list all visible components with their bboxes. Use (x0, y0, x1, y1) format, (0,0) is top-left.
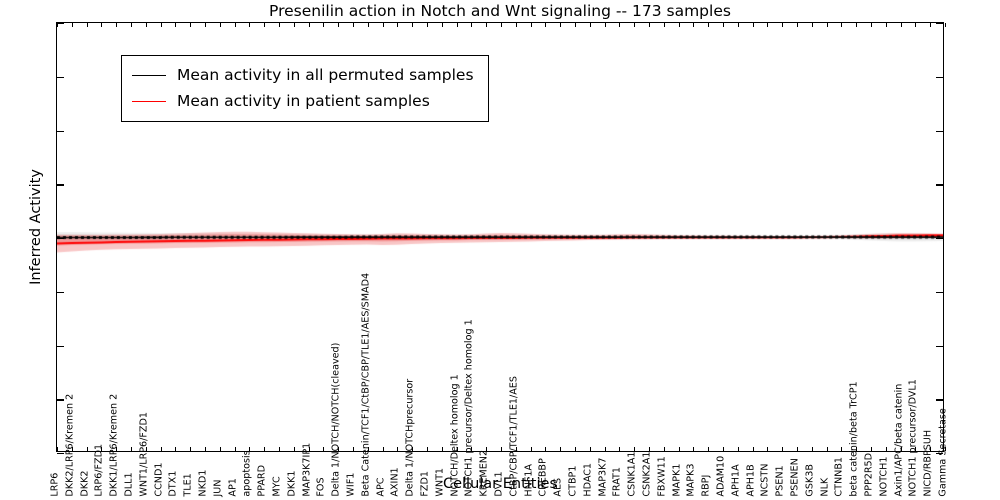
x-tick-mark (886, 23, 887, 27)
x-tick-mark (235, 23, 236, 27)
x-tick-mark (753, 447, 754, 451)
x-tick-mark (797, 23, 798, 27)
legend-item: Mean activity in all permuted samples (132, 62, 474, 88)
x-tick-mark (131, 447, 132, 451)
x-tick-mark (249, 23, 250, 27)
y-tick-mark (936, 292, 943, 293)
y-tick-mark (936, 23, 943, 24)
legend-label-permuted: Mean activity in all permuted samples (177, 66, 474, 84)
x-tick-mark (131, 23, 132, 27)
y-tick-mark (57, 399, 64, 400)
x-tick-mark (338, 23, 339, 27)
x-tick-mark (442, 23, 443, 27)
x-tick-mark (412, 23, 413, 27)
x-tick-mark (767, 447, 768, 451)
y-tick-mark (936, 346, 943, 347)
x-tick-mark (190, 447, 191, 451)
x-tick-mark (397, 23, 398, 27)
plot-area: Inferred Activity 43210−1−2−3−4 Mean act… (56, 22, 944, 452)
x-tick-mark (619, 23, 620, 27)
x-tick-mark (101, 23, 102, 27)
x-tick-mark (545, 447, 546, 451)
y-tick-mark (936, 399, 943, 400)
x-tick-mark (383, 23, 384, 27)
x-tick-mark (175, 23, 176, 27)
x-tick-mark (782, 23, 783, 27)
legend-item: Mean activity in patient samples (132, 88, 474, 114)
x-tick-mark (279, 23, 280, 27)
x-tick-mark (545, 23, 546, 27)
x-tick-mark (161, 23, 162, 27)
x-tick-mark (427, 447, 428, 451)
x-tick-mark (205, 23, 206, 27)
y-tick-mark (57, 238, 64, 239)
x-tick-mark (827, 23, 828, 27)
y-tick-mark (936, 131, 943, 132)
x-tick-mark (841, 23, 842, 27)
x-tick-mark (397, 447, 398, 451)
x-tick-mark (353, 23, 354, 27)
x-tick-label: NOTCH1 precursor/Deltex homolog 1 (465, 320, 475, 497)
y-tick-mark (57, 292, 64, 293)
x-tick-mark (501, 23, 502, 27)
x-tick-mark (486, 23, 487, 27)
x-tick-mark (708, 23, 709, 27)
x-tick-mark (87, 23, 88, 27)
x-tick-mark (220, 23, 221, 27)
x-tick-mark (205, 447, 206, 451)
x-tick-mark (649, 447, 650, 451)
x-tick-mark (930, 23, 931, 27)
x-tick-mark (738, 447, 739, 451)
x-tick-mark (531, 23, 532, 27)
x-tick-mark (664, 23, 665, 27)
x-tick-mark (871, 23, 872, 27)
x-tick-mark (383, 447, 384, 451)
x-tick-mark (516, 23, 517, 27)
x-tick-mark (797, 447, 798, 451)
x-tick-mark (605, 447, 606, 451)
x-tick-mark (827, 447, 828, 451)
x-tick-mark (279, 447, 280, 451)
y-tick-mark (936, 238, 943, 239)
y-tick-mark (57, 77, 64, 78)
x-tick-mark (634, 23, 635, 27)
x-tick-mark (590, 447, 591, 451)
x-tick-mark (723, 447, 724, 451)
x-tick-mark (679, 447, 680, 451)
x-tick-label: Beta Catenin/TCF1/CtBP/CBP/TLE1/AES/SMAD… (361, 273, 371, 497)
x-tick-mark (531, 447, 532, 451)
x-tick-mark (323, 447, 324, 451)
x-tick-mark (264, 447, 265, 451)
x-tick-mark (353, 447, 354, 451)
x-tick-mark (57, 447, 58, 451)
chart-legend: Mean activity in all permuted samples Me… (121, 55, 489, 122)
x-tick-mark (871, 447, 872, 451)
x-tick-mark (782, 447, 783, 451)
x-tick-mark (856, 23, 857, 27)
y-tick-mark (57, 131, 64, 132)
x-tick-mark (634, 447, 635, 451)
x-tick-mark (812, 447, 813, 451)
x-tick-mark (575, 447, 576, 451)
x-tick-mark (886, 447, 887, 451)
x-tick-mark (264, 23, 265, 27)
x-tick-mark (116, 23, 117, 27)
x-tick-mark (738, 23, 739, 27)
x-tick-mark (649, 23, 650, 27)
chart-figure: Presenilin action in Notch and Wnt signa… (0, 0, 1000, 500)
x-tick-mark (841, 447, 842, 451)
x-tick-mark (812, 23, 813, 27)
x-tick-mark (442, 447, 443, 451)
y-tick-mark (936, 77, 943, 78)
x-tick-mark (575, 23, 576, 27)
x-tick-mark (679, 23, 680, 27)
x-tick-mark (87, 447, 88, 451)
x-tick-mark (471, 23, 472, 27)
legend-label-patient: Mean activity in patient samples (177, 92, 430, 110)
x-tick-mark (161, 447, 162, 451)
x-tick-mark (146, 23, 147, 27)
x-tick-mark (767, 23, 768, 27)
x-tick-mark (753, 23, 754, 27)
x-tick-mark (901, 23, 902, 27)
x-tick-mark (605, 23, 606, 27)
x-tick-mark (309, 23, 310, 27)
x-tick-mark (175, 447, 176, 451)
x-tick-mark (368, 23, 369, 27)
x-tick-mark (323, 23, 324, 27)
x-axis-label: Cellular Entities (0, 476, 1000, 492)
x-tick-mark (560, 447, 561, 451)
x-tick-mark (590, 23, 591, 27)
x-tick-mark (723, 23, 724, 27)
legend-line-icon-patient (132, 101, 166, 102)
x-tick-mark (220, 447, 221, 451)
x-tick-mark (708, 447, 709, 451)
x-tick-label: Delta 1/NOTCH/NOTCH(cleaved) (332, 343, 342, 497)
x-tick-mark (457, 23, 458, 27)
x-tick-mark (190, 23, 191, 27)
x-tick-mark (945, 23, 946, 27)
x-tick-mark (294, 447, 295, 451)
x-tick-mark (427, 23, 428, 27)
x-tick-mark (693, 23, 694, 27)
x-tick-mark (235, 447, 236, 451)
x-tick-mark (915, 23, 916, 27)
x-tick-mark (57, 23, 58, 27)
x-tick-mark (294, 23, 295, 27)
x-tick-mark (560, 23, 561, 27)
x-tick-mark (664, 447, 665, 451)
x-tick-mark (693, 447, 694, 451)
y-tick-mark (936, 184, 943, 185)
x-tick-mark (72, 23, 73, 27)
page-title: Presenilin action in Notch and Wnt signa… (0, 2, 1000, 20)
y-tick-mark (57, 184, 64, 185)
legend-line-icon-permuted (132, 75, 166, 76)
y-axis-label: Inferred Activity (28, 12, 44, 442)
x-tick-mark (619, 447, 620, 451)
x-tick-mark (501, 447, 502, 451)
y-tick-mark (57, 346, 64, 347)
